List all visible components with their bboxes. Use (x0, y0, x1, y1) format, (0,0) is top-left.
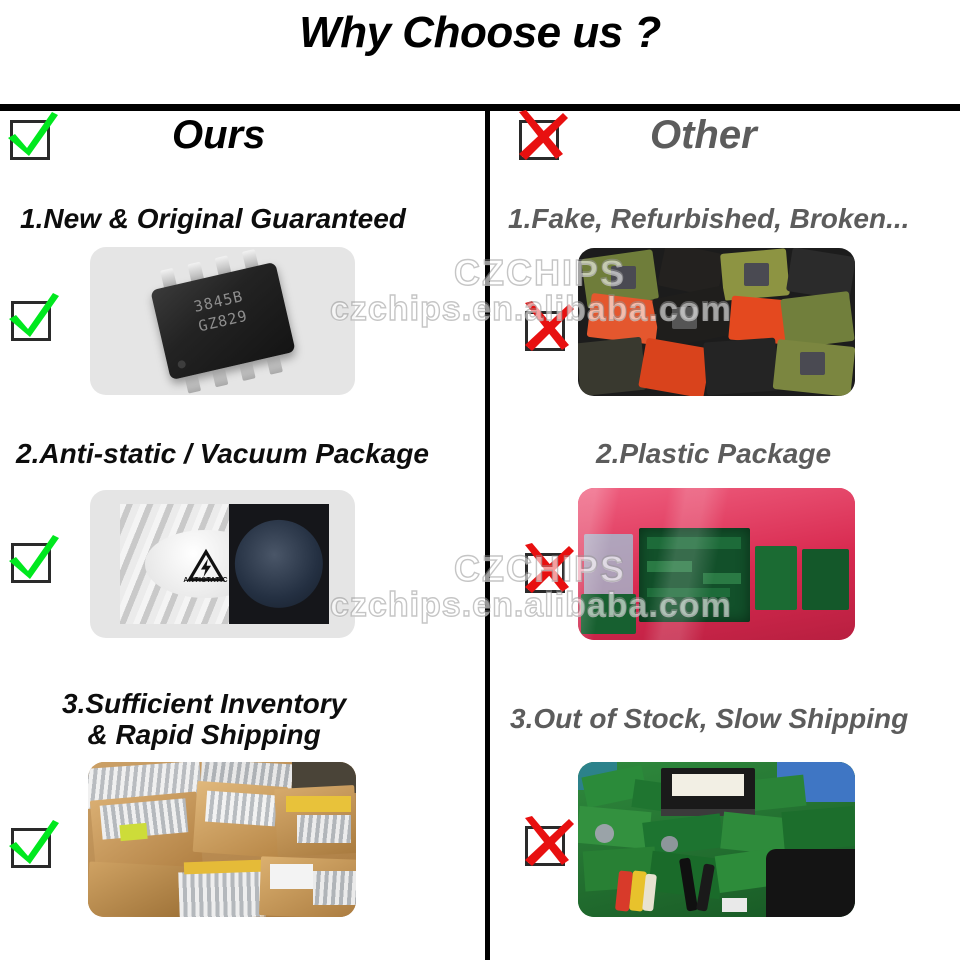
row-3-other-text: 3.Out of Stock, Slow Shipping (510, 703, 908, 734)
check-icon-row-2 (5, 535, 57, 587)
check-glyph (1, 527, 65, 591)
row-1-ours-photo: 3845B GZ829 (90, 247, 355, 395)
boxes-with-bags-mosaic (88, 762, 356, 917)
check-glyph (0, 104, 64, 168)
pcb-in-pink-bags-mosaic (578, 488, 855, 640)
cross-glyph (509, 104, 573, 168)
scrap-chips-mosaic (578, 248, 855, 396)
check-glyph (1, 285, 65, 349)
cross-icon-row-3 (519, 818, 571, 870)
row-3-ours-text: 3.Sufficient Inventory & Rapid Shipping (62, 688, 346, 751)
ic-chip-sop8: 3845B GZ829 (150, 262, 295, 380)
cross-glyph (515, 810, 579, 874)
check-icon-ours-heading (4, 112, 56, 164)
check-icon-row-1 (5, 293, 57, 345)
cross-glyph (515, 537, 579, 601)
row-3-ours-photo (88, 762, 356, 917)
row-2-ours-text: 2.Anti-static / Vacuum Package (16, 438, 429, 469)
row-2-ours-photo: ANTISTATIC (90, 490, 355, 638)
row-1-other-photo (578, 248, 855, 396)
check-glyph (1, 812, 65, 876)
page-title: Why Choose us ? (0, 8, 960, 58)
cross-glyph (515, 295, 579, 359)
black-reel-tray (229, 504, 329, 624)
row-1-other-text: 1.Fake, Refurbished, Broken... (508, 203, 909, 234)
column-heading-ours: Ours (172, 113, 265, 158)
row-2-other-text: 2.Plastic Package (596, 438, 831, 469)
column-divider-vertical (485, 111, 490, 960)
why-choose-us-comparison: Why Choose us ? Ours Other 1.New & Origi… (0, 0, 960, 960)
cross-icon-row-1 (519, 303, 571, 355)
row-3-other-photo (578, 762, 855, 917)
reel-pockets (235, 520, 323, 608)
cross-icon-other-heading (513, 112, 565, 164)
check-icon-row-3 (5, 820, 57, 872)
cross-icon-row-2 (519, 545, 571, 597)
column-heading-other: Other (650, 113, 757, 158)
antistatic-bag-and-reel: ANTISTATIC (120, 504, 329, 624)
row-2-other-photo (578, 488, 855, 640)
header-divider-horizontal (0, 104, 960, 111)
green-scrap-pcb-mosaic (578, 762, 855, 917)
row-1-ours-text: 1.New & Original Guaranteed (20, 203, 406, 234)
